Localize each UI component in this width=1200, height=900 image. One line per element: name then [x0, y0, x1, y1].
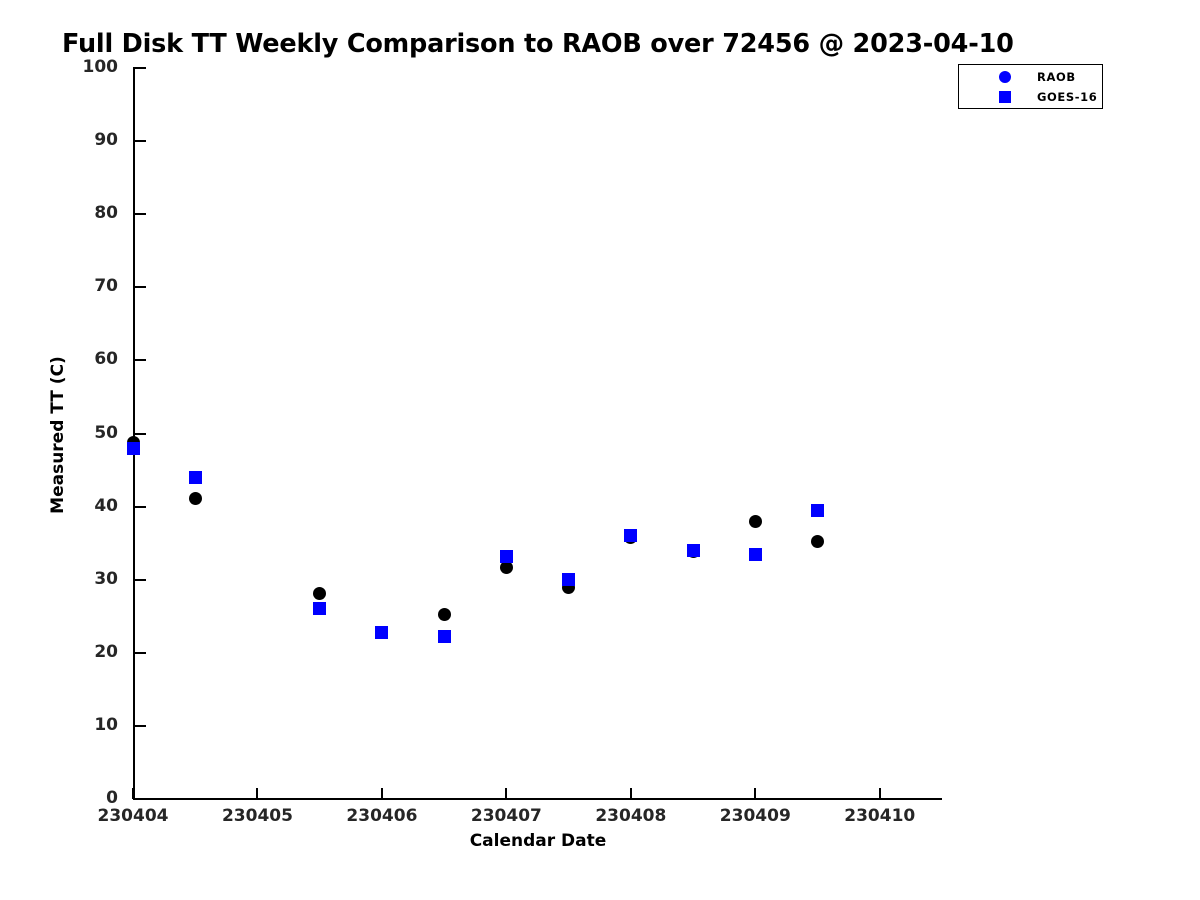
x-tick-label: 230409	[685, 806, 825, 826]
data-point-goes16[interactable]	[500, 550, 513, 563]
data-point-goes16[interactable]	[687, 544, 700, 557]
data-point-raob[interactable]	[749, 515, 762, 528]
y-tick-label: 100	[72, 57, 118, 77]
x-tick-label: 230408	[561, 806, 701, 826]
y-tick-label: 70	[72, 276, 118, 296]
legend-label-raob: RAOB	[1037, 70, 1076, 84]
data-point-raob[interactable]	[811, 535, 824, 548]
data-point-goes16[interactable]	[127, 442, 140, 455]
y-tick-label: 0	[72, 788, 118, 808]
data-point-goes16[interactable]	[749, 548, 762, 561]
x-tick-label: 230410	[810, 806, 950, 826]
x-tick-label: 230405	[187, 806, 327, 826]
legend-item-raob[interactable]: RAOB	[959, 67, 1104, 88]
chart-figure: Full Disk TT Weekly Comparison to RAOB o…	[0, 0, 1200, 900]
chart-title: Full Disk TT Weekly Comparison to RAOB o…	[62, 29, 1014, 59]
data-point-raob[interactable]	[189, 492, 202, 505]
x-tick-label: 230406	[312, 806, 452, 826]
data-point-raob[interactable]	[313, 587, 326, 600]
data-point-goes16[interactable]	[313, 602, 326, 615]
x-tick-label: 230407	[436, 806, 576, 826]
legend-item-goes16[interactable]: GOES-16	[959, 87, 1104, 108]
legend-label-goes16: GOES-16	[1037, 90, 1097, 104]
legend-square-icon	[997, 87, 1013, 108]
y-tick-label: 50	[72, 423, 118, 443]
data-point-goes16[interactable]	[562, 573, 575, 586]
data-point-goes16[interactable]	[811, 504, 824, 517]
y-tick-label: 90	[72, 130, 118, 150]
y-tick-label: 30	[72, 569, 118, 589]
plot-area	[133, 68, 942, 799]
y-tick-label: 40	[72, 496, 118, 516]
legend-circle-icon	[997, 67, 1013, 88]
x-tick-label: 230404	[63, 806, 203, 826]
y-tick-label: 10	[72, 715, 118, 735]
y-tick-label: 80	[72, 203, 118, 223]
chart-legend: RAOB GOES-16	[958, 64, 1103, 109]
y-tick-label: 20	[72, 642, 118, 662]
y-axis-label: Measured TT (C)	[48, 85, 68, 785]
data-point-goes16[interactable]	[375, 626, 388, 639]
x-axis-label: Calendar Date	[0, 831, 1076, 851]
y-tick-label: 60	[72, 349, 118, 369]
data-point-goes16[interactable]	[189, 471, 202, 484]
data-point-raob[interactable]	[438, 608, 451, 621]
data-point-goes16[interactable]	[624, 529, 637, 542]
data-point-goes16[interactable]	[438, 630, 451, 643]
